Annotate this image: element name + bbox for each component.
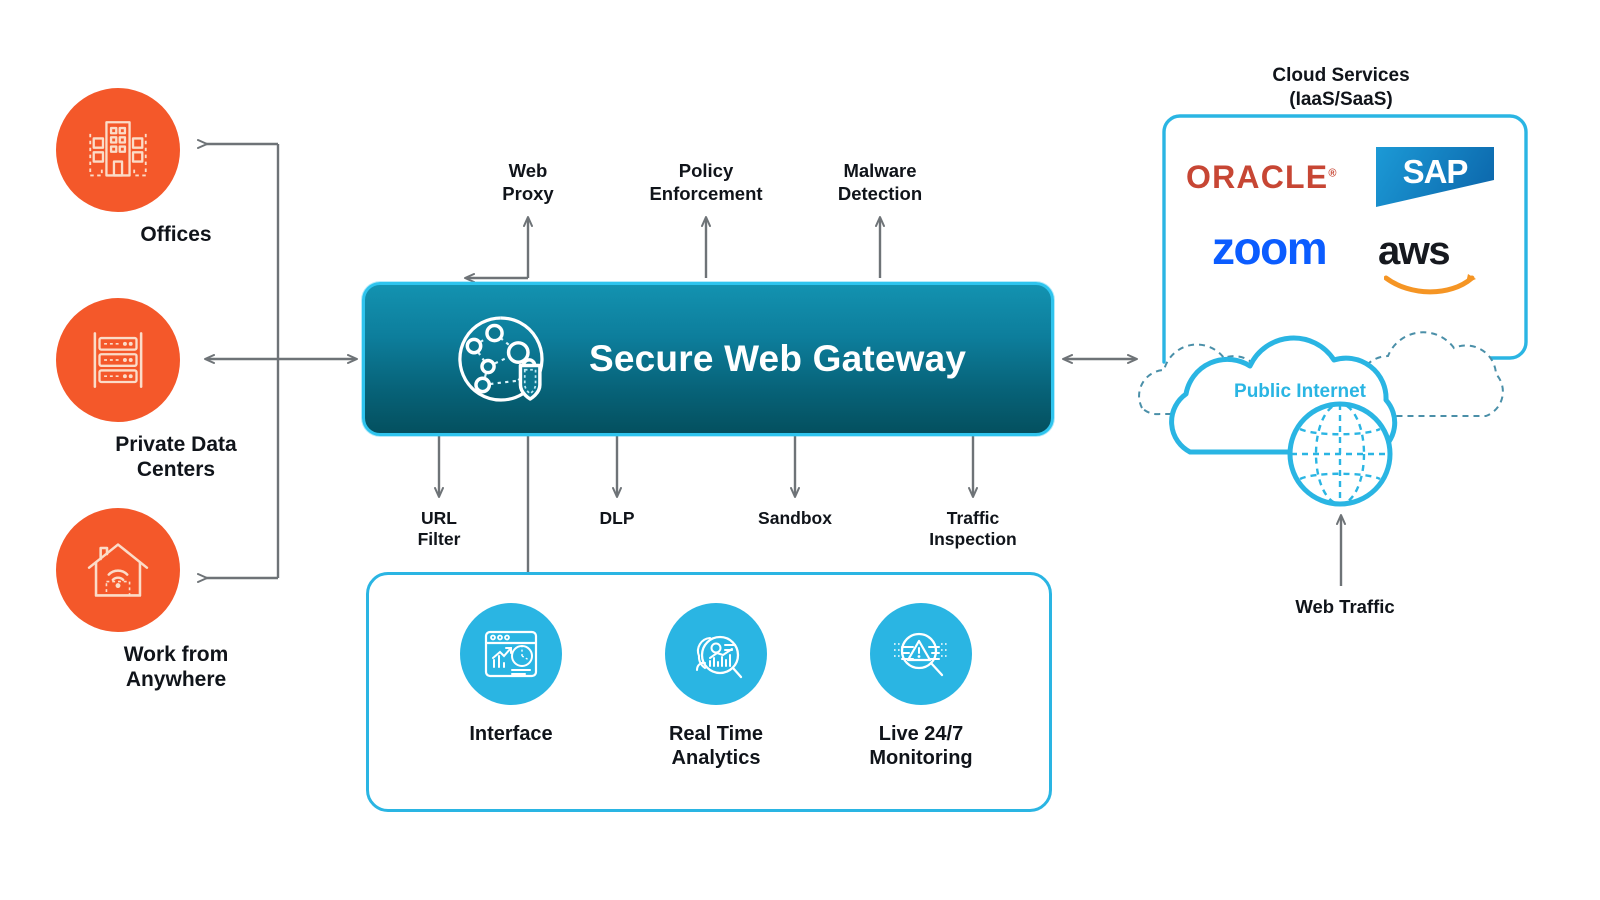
public-internet-label: Public Internet	[1210, 381, 1390, 403]
zoom-logo-text: zoom	[1212, 222, 1326, 274]
panel-item-label: Interface	[411, 722, 611, 746]
label-line-1: Real Time	[616, 722, 816, 746]
diagram-canvas: Offices Private Da	[0, 0, 1600, 900]
label-line-1: Work from	[56, 642, 296, 667]
network-shield-icon	[447, 305, 555, 413]
gateway-title: Secure Web Gateway	[589, 338, 966, 380]
title-line-2: (IaaS/SaaS)	[1196, 88, 1486, 112]
feature-label-malware-detection: Malware Detection	[790, 160, 970, 205]
dashboard-window-icon	[479, 622, 543, 686]
label-line-1: Policy	[606, 160, 806, 183]
feature-label-url-filter: URL Filter	[379, 508, 499, 551]
label-line-1: Traffic	[893, 508, 1053, 529]
label-text: Offices	[140, 223, 211, 246]
zoom-logo: zoom	[1212, 221, 1326, 275]
endpoint-private-data-centers[interactable]	[56, 298, 180, 422]
label-line-2: Centers	[56, 457, 296, 482]
feature-label-dlp: DLP	[557, 508, 677, 529]
label-line-1: Private Data	[56, 432, 296, 457]
sap-logo-text: SAP	[1403, 153, 1468, 191]
label-line-1: Malware	[790, 160, 970, 183]
public-internet-cloud	[1124, 312, 1544, 512]
feature-label-policy-enforcement: Policy Enforcement	[606, 160, 806, 205]
label-line-2: Filter	[379, 529, 499, 550]
feature-label-sandbox: Sandbox	[725, 508, 865, 529]
label-line-1: Web	[448, 160, 608, 183]
panel-item-live-monitoring[interactable]: Live 24/7 Monitoring	[821, 603, 1021, 771]
label-line-2: Proxy	[448, 183, 608, 206]
endpoint-private-data-centers-label: Private Data Centers	[56, 432, 296, 482]
alert-magnifier-icon	[889, 622, 953, 686]
endpoint-work-from-anywhere[interactable]	[56, 508, 180, 632]
analytics-magnifier-icon	[684, 622, 748, 686]
label-line-2: Detection	[790, 183, 970, 206]
feature-label-traffic-inspection: Traffic Inspection	[893, 508, 1053, 551]
oracle-registered-mark: ®	[1328, 167, 1337, 179]
title-line-1: Cloud Services	[1196, 64, 1486, 88]
office-building-icon	[81, 113, 155, 187]
aws-smile-icon	[1384, 272, 1480, 298]
endpoint-offices[interactable]	[56, 88, 180, 212]
label-line-2: Enforcement	[606, 183, 806, 206]
secure-web-gateway-bar[interactable]: Secure Web Gateway	[362, 282, 1054, 436]
interface-icon-circle	[460, 603, 562, 705]
label-line-2: Monitoring	[821, 746, 1021, 770]
panel-item-label: Live 24/7 Monitoring	[821, 722, 1021, 771]
home-wifi-icon	[81, 533, 155, 607]
monitoring-icon-circle	[870, 603, 972, 705]
label-line-2: Anywhere	[56, 667, 296, 692]
oracle-logo: ORACLE®	[1186, 159, 1338, 196]
analytics-icon-circle	[665, 603, 767, 705]
label-line-2: Inspection	[893, 529, 1053, 550]
aws-logo-text: aws	[1378, 229, 1480, 274]
panel-item-label: Real Time Analytics	[616, 722, 816, 771]
panel-item-interface[interactable]: Interface	[411, 603, 611, 746]
label-line-1: Live 24/7	[821, 722, 1021, 746]
label-line-1: URL	[379, 508, 499, 529]
feature-label-web-proxy: Web Proxy	[448, 160, 608, 205]
aws-logo: aws	[1378, 229, 1480, 298]
management-panel: Interface	[366, 572, 1052, 812]
web-traffic-label: Web Traffic	[1250, 596, 1440, 618]
cloud-services-title: Cloud Services (IaaS/SaaS)	[1196, 64, 1486, 112]
panel-item-real-time-analytics[interactable]: Real Time Analytics	[616, 603, 816, 771]
label-line-1: DLP	[557, 508, 677, 529]
server-rack-icon	[81, 323, 155, 397]
label-line-2: Analytics	[616, 746, 816, 770]
oracle-logo-text: ORACLE	[1186, 159, 1328, 195]
sap-logo: SAP	[1376, 147, 1494, 207]
endpoint-offices-label: Offices	[56, 222, 296, 247]
endpoint-work-from-anywhere-label: Work from Anywhere	[56, 642, 296, 692]
label-line-1: Interface	[411, 722, 611, 746]
label-line-1: Sandbox	[725, 508, 865, 529]
